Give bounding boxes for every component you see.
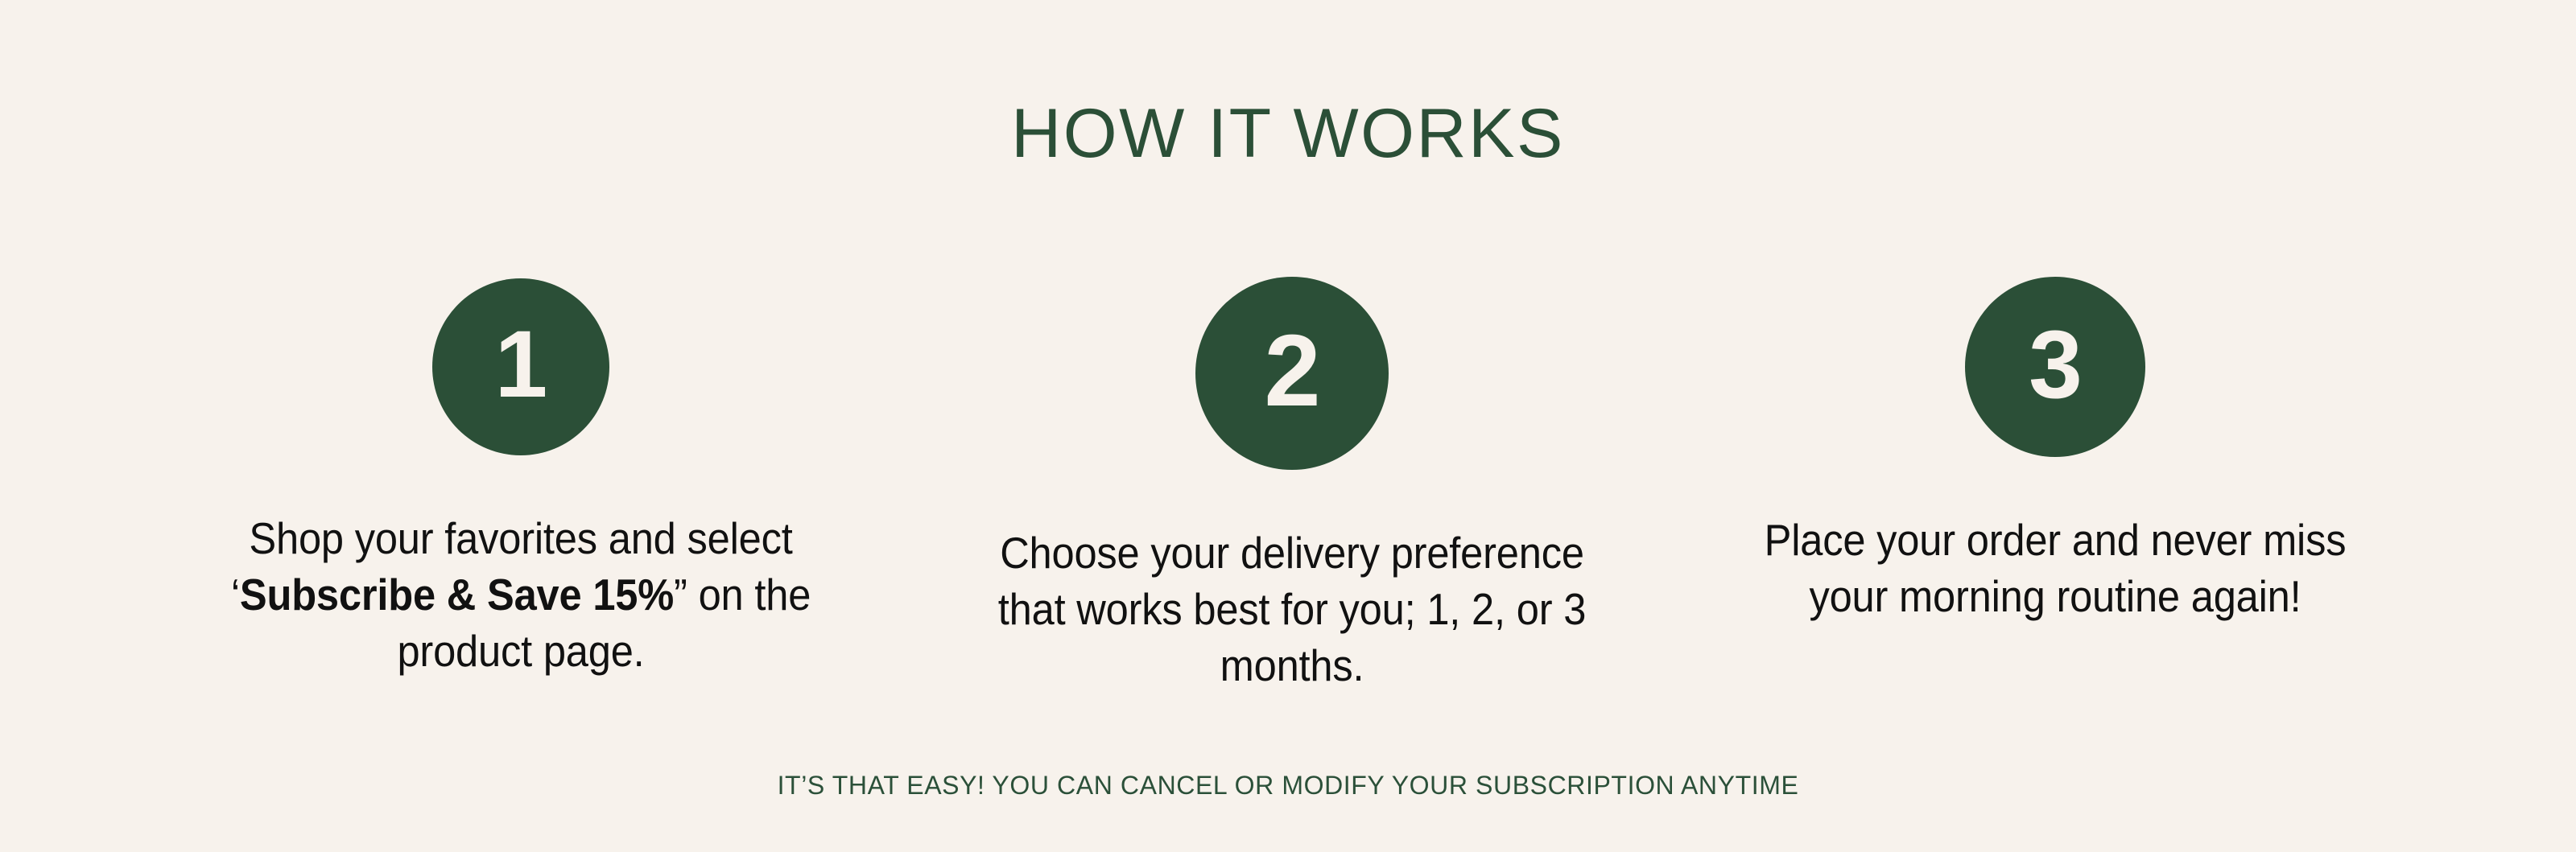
step-description-2-part-before: Choose your delivery preference that wor…	[998, 528, 1586, 690]
step-number-badge-1: 1	[432, 278, 609, 455]
page-title: HOW IT WORKS	[0, 99, 2576, 168]
steps-list: 1 Shop your favorites and select ‘Subscr…	[0, 274, 2576, 738]
step-number-3: 3	[2029, 316, 2082, 413]
step-description-1-highlight: Subscribe & Save 15%	[240, 570, 674, 619]
step-description-3: Place your order and never miss your mor…	[1759, 512, 2351, 624]
step-description-1: Shop your favorites and select ‘Subscrib…	[225, 510, 817, 679]
step-number-badge-3: 3	[1965, 277, 2145, 457]
step-description-3-part-before: Place your order and never miss your mor…	[1765, 515, 2347, 621]
how-it-works-section: HOW IT WORKS 1 Shop your favorites and s…	[0, 0, 2576, 852]
step-number-badge-2: 2	[1195, 277, 1389, 470]
step-number-1: 1	[495, 317, 547, 412]
step-description-2: Choose your delivery preference that wor…	[973, 525, 1610, 694]
step-item-3: 3 Place your order and never miss your m…	[1693, 274, 2417, 669]
step-item-1: 1 Shop your favorites and select ‘Subscr…	[159, 274, 883, 723]
step-number-2: 2	[1264, 320, 1319, 422]
cancel-anytime-note: IT’S THAT EASY! YOU CAN CANCEL OR MODIFY…	[0, 770, 2576, 801]
step-item-2: 2 Choose your delivery preference that w…	[930, 274, 1654, 738]
